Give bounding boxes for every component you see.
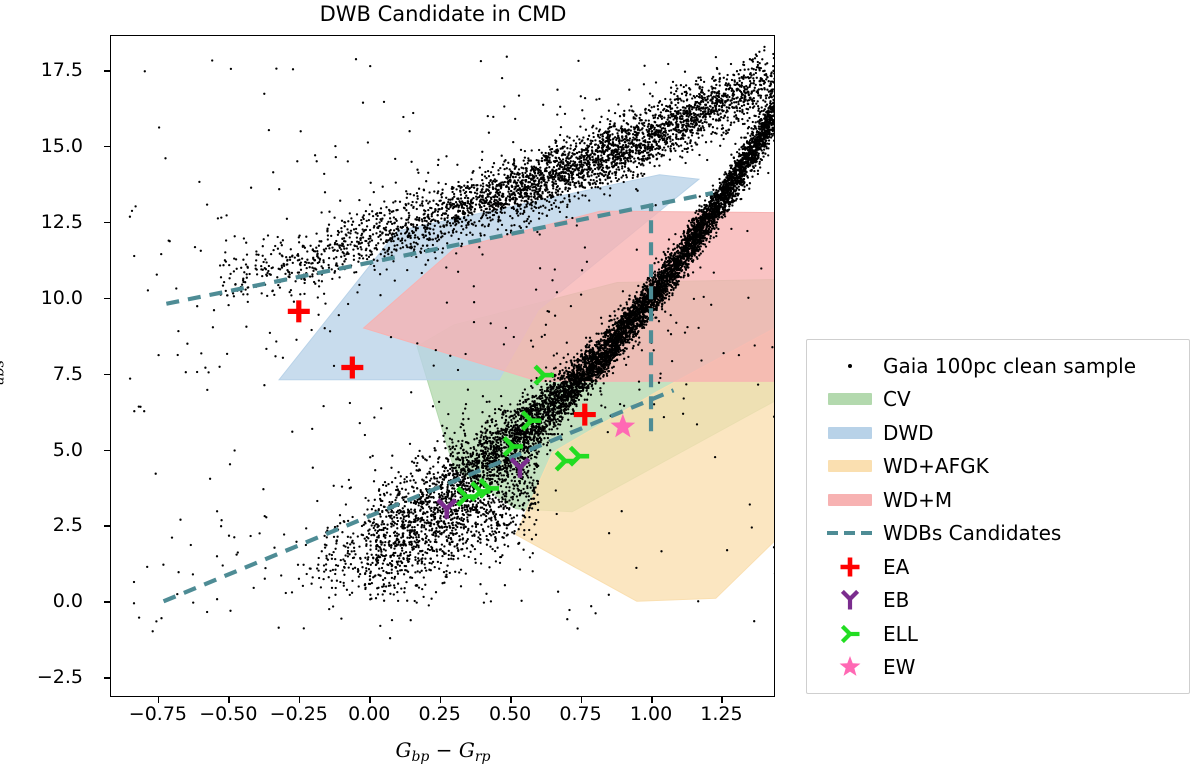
scatter-point xyxy=(426,473,428,475)
scatter-point xyxy=(715,189,717,191)
scatter-point xyxy=(715,232,717,234)
scatter-point xyxy=(395,496,397,498)
scatter-point xyxy=(354,553,356,555)
scatter-point xyxy=(511,421,513,423)
scatter-point xyxy=(540,408,542,410)
scatter-point xyxy=(622,342,624,344)
scatter-point xyxy=(429,456,431,458)
scatter-point xyxy=(620,342,622,344)
scatter-point xyxy=(429,549,431,551)
scatter-point xyxy=(472,491,474,493)
scatter-point xyxy=(594,374,596,376)
scatter-point xyxy=(687,231,689,233)
scatter-point xyxy=(510,425,512,427)
scatter-point xyxy=(385,549,387,551)
scatter-point xyxy=(676,272,678,274)
scatter-point xyxy=(332,551,334,553)
scatter-point xyxy=(745,136,747,138)
scatter-point xyxy=(413,509,415,511)
scatter-point xyxy=(772,99,774,101)
scatter-point xyxy=(374,469,376,471)
scatter-point xyxy=(556,352,558,354)
scatter-point xyxy=(657,271,659,273)
scatter-point xyxy=(638,341,640,343)
scatter-point xyxy=(501,452,503,454)
scatter-point xyxy=(410,472,412,474)
scatter-point xyxy=(444,447,446,449)
scatter-point xyxy=(762,155,764,157)
scatter-point xyxy=(334,558,336,560)
scatter-point xyxy=(556,397,558,399)
scatter-point xyxy=(492,494,494,496)
scatter-point xyxy=(494,436,496,438)
scatter-point xyxy=(400,517,402,519)
scatter-point xyxy=(620,315,622,317)
scatter-point xyxy=(416,487,418,489)
scatter-point xyxy=(421,479,423,481)
scatter-point xyxy=(665,279,667,281)
scatter-point xyxy=(753,170,755,172)
scatter-point xyxy=(426,494,428,496)
scatter-point xyxy=(441,481,443,483)
scatter-point xyxy=(708,241,710,243)
scatter-point xyxy=(412,521,414,523)
scatter-point xyxy=(702,250,704,252)
scatter-point xyxy=(351,592,353,594)
scatter-point xyxy=(455,469,457,471)
scatter-point xyxy=(544,390,546,392)
scatter-point xyxy=(317,569,319,571)
scatter-point xyxy=(442,478,444,480)
plot-area xyxy=(110,35,775,697)
scatter-point xyxy=(489,437,491,439)
scatter-point xyxy=(334,594,336,596)
scatter-point xyxy=(358,575,360,577)
scatter-point xyxy=(654,271,656,273)
scatter-point xyxy=(380,523,382,525)
scatter-point xyxy=(615,347,617,349)
scatter-point xyxy=(494,412,496,414)
scatter-point xyxy=(475,526,477,528)
scatter-point xyxy=(489,432,491,434)
scatter-point xyxy=(418,504,420,506)
scatter-point xyxy=(435,483,437,485)
scatter-point xyxy=(349,594,351,596)
scatter-point xyxy=(491,432,493,434)
scatter-point xyxy=(522,417,524,419)
scatter-point xyxy=(502,411,504,413)
scatter-point xyxy=(396,523,398,525)
scatter-point xyxy=(490,444,492,446)
scatter-point xyxy=(657,261,659,263)
scatter-point xyxy=(478,453,480,455)
scatter-point xyxy=(447,470,449,472)
scatter-point xyxy=(462,537,464,539)
scatter-point xyxy=(484,427,486,429)
scatter-point xyxy=(397,492,399,494)
scatter-point xyxy=(326,536,328,538)
scatter-point xyxy=(336,536,338,538)
scatter-point xyxy=(628,341,630,343)
scatter-point xyxy=(576,389,578,391)
scatter-point xyxy=(364,497,366,499)
scatter-point xyxy=(429,467,431,469)
scatter-point xyxy=(397,573,399,575)
scatter-point xyxy=(549,410,551,412)
scatter-point xyxy=(515,415,517,417)
scatter-point xyxy=(748,188,750,190)
scatter-point xyxy=(752,132,754,134)
scatter-point xyxy=(494,408,496,410)
scatter-point xyxy=(697,213,699,215)
scatter-point xyxy=(409,443,411,445)
scatter-point xyxy=(476,437,478,439)
scatter-point xyxy=(476,433,478,435)
scatter-point xyxy=(719,193,721,195)
scatter-point xyxy=(442,466,444,468)
scatter-point xyxy=(366,536,368,538)
scatter-point xyxy=(455,445,457,447)
scatter-point xyxy=(526,394,528,396)
scatter-point xyxy=(705,204,707,206)
scatter-point xyxy=(645,324,647,326)
scatter-point xyxy=(629,332,631,334)
scatter-point xyxy=(416,462,418,464)
scatter-point xyxy=(361,561,363,563)
scatter-point xyxy=(318,577,320,579)
scatter-point xyxy=(414,500,416,502)
scatter-point xyxy=(383,523,385,525)
scatter-point xyxy=(632,345,634,347)
scatter-point xyxy=(688,220,690,222)
scatter-point xyxy=(536,397,538,399)
scatter-point xyxy=(339,514,341,516)
scatter-point xyxy=(542,413,544,415)
scatter-point xyxy=(630,338,632,340)
scatter-point xyxy=(473,446,475,448)
scatter-point xyxy=(480,436,482,438)
chart-title: DWB Candidate in CMD xyxy=(110,2,776,26)
scatter-point xyxy=(502,493,504,495)
scatter-point xyxy=(692,271,694,273)
scatter-point xyxy=(432,482,434,484)
scatter-point xyxy=(454,448,456,450)
scatter-point xyxy=(446,489,448,491)
scatter-point xyxy=(626,303,628,305)
scatter-point xyxy=(443,493,445,495)
scatter-point xyxy=(579,391,581,393)
scatter-point xyxy=(372,522,374,524)
scatter-point xyxy=(557,377,559,379)
scatter-point xyxy=(414,529,416,531)
scatter-point xyxy=(347,536,349,538)
scatter-point xyxy=(627,356,629,358)
scatter-point xyxy=(548,428,550,430)
scatter-point xyxy=(608,326,610,328)
scatter-point xyxy=(387,483,389,485)
scatter-point xyxy=(674,233,676,235)
scatter-point xyxy=(343,566,345,568)
scatter-point xyxy=(756,133,758,135)
scatter-point xyxy=(437,458,439,460)
scatter-point xyxy=(577,358,579,360)
scatter-point xyxy=(566,389,568,391)
scatter-point xyxy=(437,471,439,473)
scatter-point xyxy=(546,388,548,390)
scatter-point xyxy=(619,353,621,355)
scatter-point xyxy=(718,214,720,216)
scatter-point xyxy=(496,475,498,477)
scatter-point xyxy=(611,319,613,321)
scatter-point xyxy=(388,501,390,503)
scatter-point xyxy=(548,433,550,435)
scatter-point xyxy=(594,382,596,384)
scatter-point xyxy=(471,460,473,462)
scatter-point xyxy=(394,477,396,479)
scatter-point xyxy=(417,557,419,559)
scatter-point xyxy=(402,499,404,501)
scatter-point xyxy=(567,412,569,414)
scatter-point xyxy=(749,146,751,148)
scatter-point xyxy=(595,380,597,382)
scatter-point xyxy=(481,444,483,446)
scatter-point xyxy=(410,511,412,513)
scatter-point xyxy=(552,426,554,428)
scatter-point xyxy=(567,419,569,421)
scatter-point xyxy=(343,574,345,576)
scatter-point xyxy=(379,515,381,517)
scatter-point xyxy=(302,564,304,566)
scatter-point xyxy=(553,379,555,381)
scatter-point xyxy=(501,405,503,407)
scatter-point xyxy=(664,302,666,304)
scatter-point xyxy=(328,553,330,555)
scatter-point xyxy=(396,517,398,519)
scatter-point xyxy=(531,387,533,389)
scatter-point xyxy=(428,529,430,531)
scatter-point xyxy=(561,369,563,371)
scatter-point xyxy=(736,193,738,195)
scatter-point xyxy=(664,276,666,278)
scatter-point xyxy=(456,484,458,486)
scatter-point xyxy=(580,349,582,351)
scatter-point xyxy=(565,409,567,411)
scatter-point xyxy=(565,370,567,372)
scatter-point xyxy=(473,438,475,440)
scatter-point xyxy=(674,282,676,284)
scatter-point xyxy=(611,359,613,361)
scatter-point xyxy=(486,475,488,477)
scatter-point xyxy=(564,367,566,369)
scatter-point xyxy=(456,513,458,515)
scatter-point xyxy=(606,375,608,377)
scatter-point xyxy=(499,409,501,411)
scatter-point xyxy=(680,236,682,238)
chart-canvas xyxy=(110,35,775,697)
scatter-point xyxy=(567,353,569,355)
scatter-point xyxy=(370,534,372,536)
scatter-point xyxy=(539,395,541,397)
scatter-point xyxy=(413,479,415,481)
scatter-point xyxy=(386,491,388,493)
scatter-point xyxy=(417,455,419,457)
scatter-point xyxy=(446,427,448,429)
scatter-point xyxy=(602,375,604,377)
scatter-point xyxy=(768,139,770,141)
scatter-point xyxy=(402,518,404,520)
scatter-point xyxy=(433,473,435,475)
scatter-point xyxy=(751,176,753,178)
scatter-point xyxy=(460,443,462,445)
scatter-point xyxy=(449,448,451,450)
scatter-point xyxy=(718,178,720,180)
scatter-point xyxy=(595,376,597,378)
scatter-point xyxy=(606,373,608,375)
scatter-point xyxy=(443,440,445,442)
scatter-point xyxy=(718,216,720,218)
scatter-point xyxy=(483,436,485,438)
scatter-point xyxy=(708,210,710,212)
scatter-point xyxy=(734,190,736,192)
scatter-point xyxy=(496,436,498,438)
scatter-point xyxy=(374,499,376,501)
scatter-point xyxy=(367,499,369,501)
scatter-point xyxy=(540,386,542,388)
scatter-point xyxy=(518,414,520,416)
scatter-point xyxy=(534,413,536,415)
scatter-point xyxy=(352,568,354,570)
scatter-point xyxy=(423,563,425,565)
scatter-point xyxy=(635,340,637,342)
scatter-point xyxy=(581,353,583,355)
scatter-point xyxy=(580,395,582,397)
scatter-point xyxy=(656,307,658,309)
scatter-point xyxy=(459,474,461,476)
scatter-point xyxy=(645,281,647,283)
scatter-point xyxy=(470,478,472,480)
scatter-point xyxy=(559,370,561,372)
scatter-point xyxy=(349,536,351,538)
scatter-point xyxy=(351,516,353,518)
scatter-point xyxy=(504,429,506,431)
scatter-point xyxy=(306,573,308,575)
scatter-point xyxy=(524,388,526,390)
scatter-point xyxy=(342,569,344,571)
scatter-point xyxy=(714,221,716,223)
scatter-point xyxy=(570,359,572,361)
scatter-point xyxy=(752,121,754,123)
scatter-point xyxy=(652,279,654,281)
scatter-point xyxy=(353,542,355,544)
scatter-point xyxy=(600,393,602,395)
scatter-point xyxy=(372,505,374,507)
scatter-point xyxy=(627,307,629,309)
scatter-point xyxy=(619,348,621,350)
scatter-point xyxy=(510,419,512,421)
scatter-point xyxy=(522,401,524,403)
scatter-point xyxy=(459,496,461,498)
scatter-point xyxy=(503,467,505,469)
scatter-point xyxy=(674,286,676,288)
scatter-point xyxy=(371,562,373,564)
scatter-point xyxy=(547,441,549,443)
scatter-point xyxy=(499,433,501,435)
scatter-point xyxy=(386,531,388,533)
scatter-point xyxy=(687,224,689,226)
scatter-point xyxy=(510,410,512,412)
scatter-point xyxy=(613,310,615,312)
scatter-point xyxy=(654,274,656,276)
scatter-point xyxy=(661,303,663,305)
scatter-point xyxy=(746,175,748,177)
scatter-point xyxy=(481,425,483,427)
scatter-point xyxy=(564,378,566,380)
scatter-point xyxy=(557,418,559,420)
scatter-point xyxy=(334,548,336,550)
scatter-point xyxy=(578,399,580,401)
scatter-point xyxy=(709,237,711,239)
scatter-point xyxy=(363,513,365,515)
scatter-point xyxy=(446,486,448,488)
scatter-point xyxy=(628,294,630,296)
scatter-point xyxy=(704,199,706,201)
scatter-point xyxy=(637,344,639,346)
scatter-point xyxy=(428,539,430,541)
scatter-point xyxy=(629,336,631,338)
scatter-point xyxy=(351,580,353,582)
scatter-point xyxy=(357,535,359,537)
scatter-point xyxy=(380,504,382,506)
scatter-point xyxy=(357,571,359,573)
scatter-point xyxy=(465,466,467,468)
scatter-point xyxy=(384,481,386,483)
scatter-point xyxy=(508,416,510,418)
scatter-point xyxy=(378,546,380,548)
scatter-point xyxy=(524,452,526,454)
scatter-point xyxy=(458,466,460,468)
scatter-point xyxy=(680,242,682,244)
scatter-point xyxy=(449,464,451,466)
scatter-point xyxy=(343,582,345,584)
scatter-point xyxy=(520,431,522,433)
scatter-point xyxy=(683,272,685,274)
scatter-point xyxy=(466,452,468,454)
scatter-point xyxy=(470,447,472,449)
scatter-point xyxy=(528,464,530,466)
scatter-point xyxy=(358,585,360,587)
scatter-point xyxy=(366,508,368,510)
scatter-point xyxy=(486,401,488,403)
scatter-point xyxy=(438,496,440,498)
scatter-point xyxy=(409,534,411,536)
scatter-point xyxy=(617,308,619,310)
scatter-point xyxy=(388,544,390,546)
scatter-point xyxy=(340,559,342,561)
scatter-point xyxy=(694,212,696,214)
scatter-point xyxy=(609,336,611,338)
scatter-point xyxy=(753,167,755,169)
scatter-point xyxy=(557,433,559,435)
scatter-point xyxy=(546,453,548,455)
scatter-point xyxy=(743,186,745,188)
scatter-point xyxy=(365,570,367,572)
scatter-point xyxy=(414,482,416,484)
scatter-point xyxy=(547,390,549,392)
scatter-point xyxy=(556,427,558,429)
scatter-point xyxy=(350,563,352,565)
scatter-point xyxy=(491,469,493,471)
scatter-point xyxy=(738,185,740,187)
